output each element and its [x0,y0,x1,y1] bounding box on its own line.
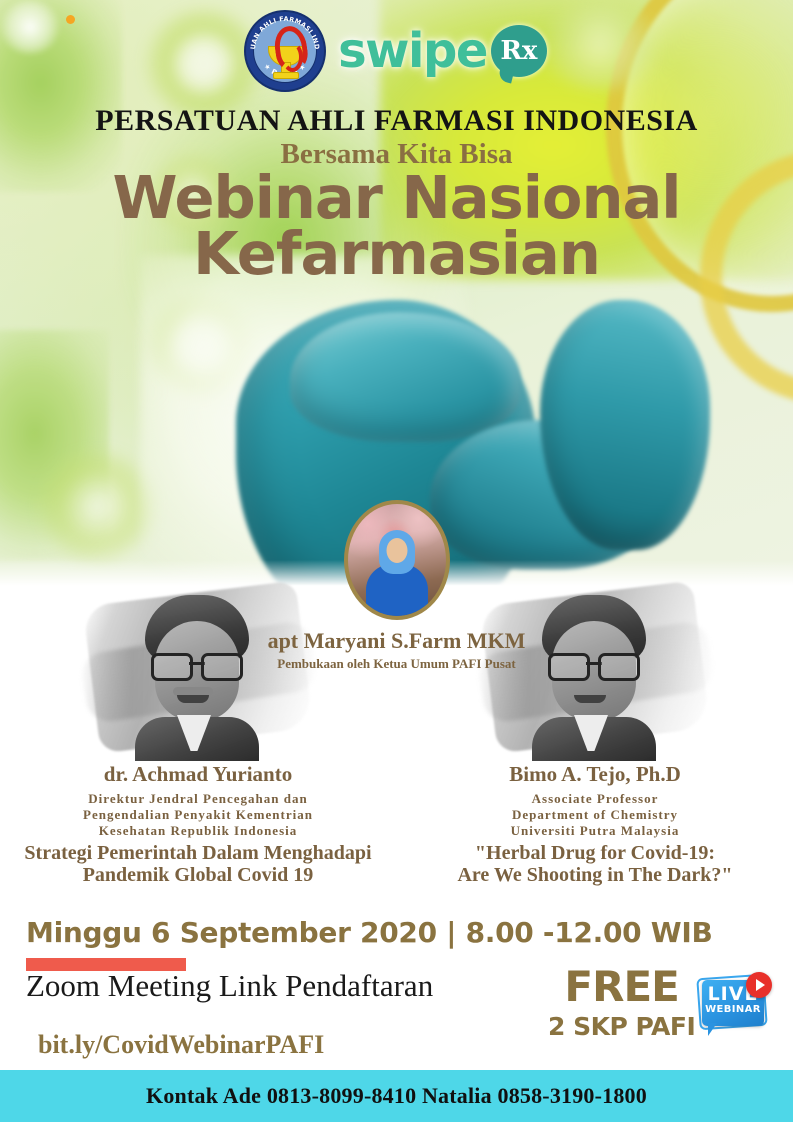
live-badge-bubble-tail [708,1023,717,1036]
contact-bar: Kontak Ade 0813-8099-8410 Natalia 0858-3… [0,1070,793,1122]
portrait-mouth [177,695,209,703]
pafi-logo-icon: PERSATUAN AHLI FARMASI INDONESIA ★ P A F… [246,12,324,90]
rx-speech-bubble-icon: Rx [491,25,547,77]
center-speaker-role: Pembukaan oleh Ketua Umum PAFI Pusat [0,656,793,672]
poster-title-line-2: Kefarmasian [0,224,793,284]
speaker-left-topic-line-1: Strategi Pemerintah Dalam Menghadapi [8,842,388,864]
pafi-bowl-foot [273,72,299,79]
speaker-left-topic: Strategi Pemerintah Dalam Menghadapi Pan… [8,842,388,887]
speaker-left-affiliation-line-1: Direktur Jendral Pencegahan dan [8,791,388,807]
speaker-left-affiliation-line-2: Pengendalian Penyakit Kementrian [8,807,388,823]
speaker-right-affiliation-line-2: Department of Chemistry [405,807,785,823]
center-speaker-block: apt Maryani S.Farm MKM Pembukaan oleh Ke… [0,500,793,672]
center-speaker-name: apt Maryani S.Farm MKM [0,628,793,654]
gloved-hand-knuckles [290,312,520,442]
speaker-left-affiliation: Direktur Jendral Pencegahan dan Pengenda… [8,791,388,839]
swiperx-wordmark: swipe [338,27,487,75]
pafi-snake-coil-icon [282,42,303,72]
speaker-right-topic: "Herbal Drug for Covid-19: Are We Shooti… [405,842,785,887]
play-button-icon [746,972,772,998]
speaker-right-affiliation-line-3: Universiti Putra Malaysia [405,823,785,839]
avatar [344,500,450,620]
speaker-right-affiliation-line-1: Associate Professor [405,791,785,807]
registration-link[interactable]: bit.ly/CovidWebinarPAFI [38,1030,324,1060]
avatar-face [386,538,407,563]
speaker-right-topic-line-2: Are We Shooting in The Dark?" [405,864,785,886]
swiperx-logo: swipe Rx [338,25,547,77]
speaker-right-topic-line-1: "Herbal Drug for Covid-19: [405,842,785,864]
zoom-meeting-label: Zoom Meeting Link Pendaftaran [26,968,433,1004]
free-label: FREE [548,966,695,1008]
speaker-left-topic-line-2: Pandemik Global Covid 19 [8,864,388,886]
contact-text: Kontak Ade 0813-8099-8410 Natalia 0858-3… [146,1083,647,1109]
live-badge-line-2: WEBINAR [702,1005,764,1015]
speaker-left-name: dr. Achmad Yurianto [8,762,388,787]
speaker-left-affiliation-line-3: Kesehatan Republik Indonesia [8,823,388,839]
live-webinar-badge-icon: LIVE WEBINAR [696,972,772,1038]
portrait-mouth [574,695,606,703]
event-date-time: Minggu 6 September 2020 | 8.00 -12.00 WI… [26,916,713,949]
rx-label: Rx [500,38,537,64]
skp-credits-label: 2 SKP PAFI [548,1012,695,1042]
webinar-poster: PERSATUAN AHLI FARMASI INDONESIA ★ P A F… [0,0,793,1122]
speaker-right-affiliation: Associate Professor Department of Chemis… [405,791,785,839]
swiperx-i-dot-icon [66,15,75,24]
free-badge-block: FREE 2 SKP PAFI [548,966,695,1042]
logo-row: PERSATUAN AHLI FARMASI INDONESIA ★ P A F… [0,12,793,90]
organization-name: PERSATUAN AHLI FARMASI INDONESIA [0,104,793,138]
speaker-right-name: Bimo A. Tejo, Ph.D [405,762,785,787]
